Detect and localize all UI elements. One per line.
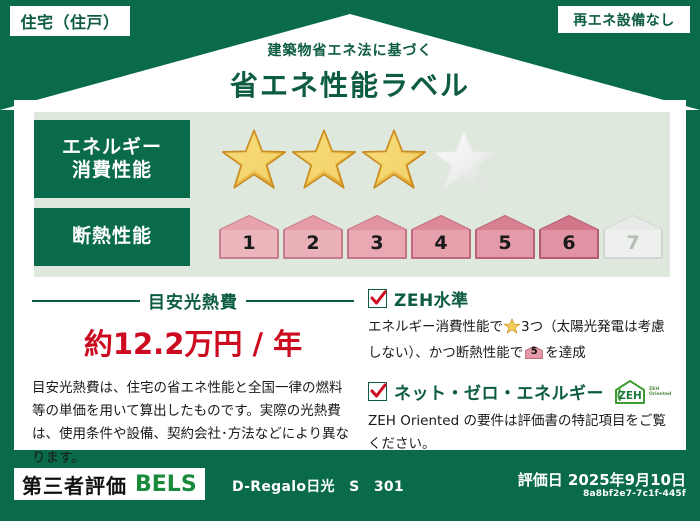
zeh-standard-body: エネルギー消費性能で3つ（太陽光発電は考慮しない）、かつ断熱性能で5を達成 <box>368 316 676 365</box>
energy-rating-row: エネルギー 消費性能 <box>34 120 496 198</box>
house-icon-level-5: 5 <box>474 214 536 260</box>
house-icon-inline: 5 <box>525 344 543 361</box>
zeh-standard-head: ZEH水準 <box>368 286 676 311</box>
house-level-number: 4 <box>410 232 472 254</box>
energy-stars <box>222 128 496 190</box>
utility-cost-block: 目安光熱費 約12.2万円 / 年 目安光熱費は、住宅の省エネ性能と全国一律の燃… <box>16 284 368 450</box>
building-name: D-Regalo日光 S 301 <box>232 476 404 496</box>
evaluation-date: 評価日 2025年9月10日 <box>518 469 686 490</box>
zeh-standard-body-part3: を達成 <box>545 345 586 361</box>
title-block: 建築物省エネ法に基づく 省エネ性能ラベル <box>0 40 700 104</box>
star-icon-empty-4 <box>432 128 496 190</box>
house-icon-inline-number: 5 <box>525 343 543 360</box>
svg-text:ZEH: ZEH <box>618 390 642 402</box>
insulation-levels: 1 2 3 4 5 <box>218 214 666 260</box>
title-subtitle: 建築物省エネ法に基づく <box>0 40 700 60</box>
checkbox-checked-icon[interactable] <box>368 382 387 401</box>
house-level-number: 3 <box>346 232 408 254</box>
net-zero-energy-head: ネット・ゼロ・エネルギー ZEH ZEH Oriented <box>368 379 676 405</box>
energy-rating-label-line2: 消費性能 <box>72 159 152 182</box>
evaluation-uid: 8a8bf2e7-7c1f-445f <box>583 489 686 499</box>
tag-housing-type: 住宅（住戸） <box>10 6 130 36</box>
tag-renewable-energy: 再エネ設備なし <box>558 6 690 33</box>
star-icon-inline <box>504 318 520 342</box>
house-level-number: 2 <box>282 232 344 254</box>
insulation-rating-label: 断熱性能 <box>34 208 190 266</box>
zeh-logo-sub-line2: Oriented <box>649 392 671 397</box>
house-icon-level-6: 6 <box>538 214 600 260</box>
house-icon-level-4: 4 <box>410 214 472 260</box>
insulation-rating-row: 断熱性能 1 2 3 <box>34 208 666 266</box>
zeh-logo-sub: ZEH Oriented <box>649 387 671 397</box>
house-icon-level-2: 2 <box>282 214 344 260</box>
star-icon-filled-1 <box>222 128 286 190</box>
zeh-logo: ZEH ZEH Oriented <box>613 379 671 405</box>
star-icon-filled-2 <box>292 128 356 190</box>
insulation-rating-label-text: 断熱性能 <box>72 225 152 248</box>
energy-rating-label-line1: エネルギー <box>62 136 162 159</box>
label-card: エネルギー 消費性能 <box>14 100 686 450</box>
bels-badge: 第三者評価 BELS <box>14 468 205 500</box>
bels-badge-en: BELS <box>135 472 197 497</box>
rule-right <box>246 300 354 302</box>
house-icon-level-7: 7 <box>602 214 664 260</box>
utility-cost-value: 約12.2万円 / 年 <box>32 321 354 363</box>
net-zero-energy-title: ネット・ゼロ・エネルギー <box>394 379 604 404</box>
utility-cost-note: 目安光熱費は、住宅の省エネ性能と全国一律の燃料等の単価を用いて算出したものです。… <box>32 377 354 470</box>
details-section: 目安光熱費 約12.2万円 / 年 目安光熱費は、住宅の省エネ性能と全国一律の燃… <box>16 284 688 450</box>
energy-rating-label: エネルギー 消費性能 <box>34 120 190 198</box>
checkbox-checked-icon[interactable] <box>368 289 387 308</box>
bels-badge-jp: 第三者評価 <box>22 470 127 499</box>
energy-performance-label: 住宅（住戸） 再エネ設備なし 建築物省エネ法に基づく 省エネ性能ラベル エネルギ… <box>0 0 700 521</box>
zeh-standard-body-part1: エネルギー消費性能で <box>368 319 503 335</box>
house-icon-level-1: 1 <box>218 214 280 260</box>
zeh-standard-check: ZEH水準 エネルギー消費性能で3つ（太陽光発電は考慮しない）、かつ断熱性能で5… <box>368 286 676 365</box>
utility-cost-heading: 目安光熱費 <box>32 288 354 313</box>
net-zero-energy-check: ネット・ゼロ・エネルギー ZEH ZEH Oriented <box>368 379 676 456</box>
house-level-number: 6 <box>538 232 600 254</box>
ratings-panel: エネルギー 消費性能 <box>34 112 670 277</box>
compliance-block: ZEH水準 エネルギー消費性能で3つ（太陽光発電は考慮しない）、かつ断熱性能で5… <box>368 284 688 450</box>
footer-bar: 第三者評価 BELS D-Regalo日光 S 301 評価日 2025年9月1… <box>0 461 700 521</box>
rule-left <box>32 300 140 302</box>
star-icon-filled-3 <box>362 128 426 190</box>
house-icon-level-3: 3 <box>346 214 408 260</box>
net-zero-energy-body: ZEH Oriented の要件は評価書の特記項目をご覧ください。 <box>368 410 676 456</box>
title-main: 省エネ性能ラベル <box>0 64 700 104</box>
zeh-standard-title: ZEH水準 <box>394 286 469 311</box>
tag-renewable-energy-label: 再エネ設備なし <box>573 10 675 30</box>
utility-cost-heading-text: 目安光熱費 <box>148 288 238 313</box>
house-level-number: 7 <box>602 232 664 254</box>
house-level-number: 1 <box>218 232 280 254</box>
house-level-number: 5 <box>474 232 536 254</box>
tag-housing-type-label: 住宅（住戸） <box>20 9 119 33</box>
